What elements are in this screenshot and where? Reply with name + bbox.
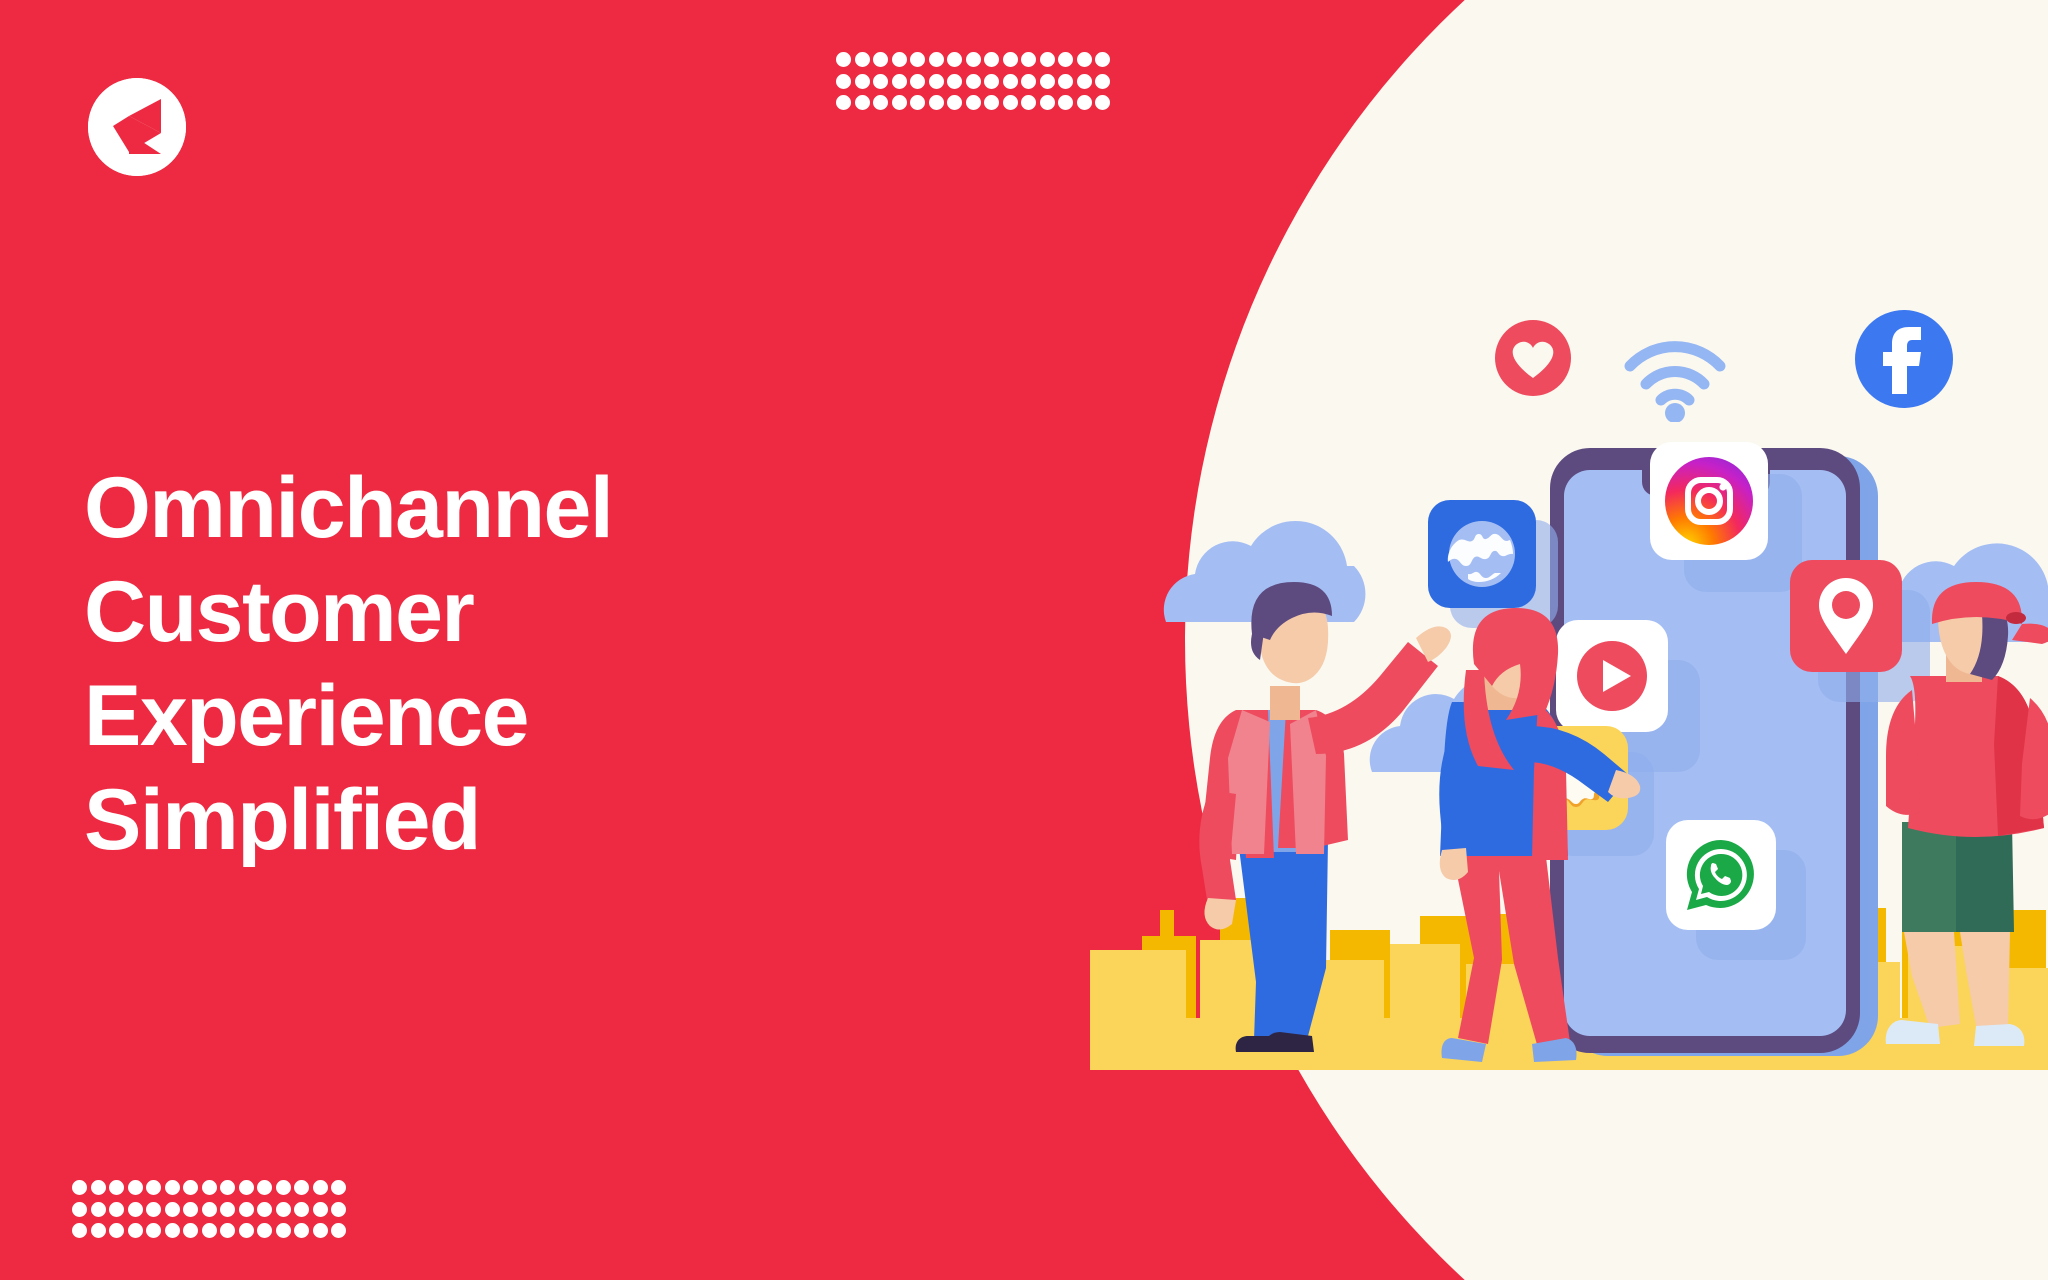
dot: [239, 1180, 254, 1195]
dot: [929, 52, 944, 67]
facebook-f-glyph-icon: [1855, 310, 1953, 408]
dot: [1058, 95, 1073, 110]
brand-logo-mark-icon: [88, 78, 186, 176]
dot: [239, 1202, 254, 1217]
dot: [239, 1223, 254, 1238]
dot: [892, 52, 907, 67]
dot: [929, 74, 944, 89]
dot: [331, 1180, 346, 1195]
dot: [1003, 52, 1018, 67]
dot: [128, 1223, 143, 1238]
dot: [276, 1202, 291, 1217]
instagram-glyph-icon: [1650, 442, 1768, 560]
dot: [165, 1223, 180, 1238]
heart-glyph-icon: [1495, 320, 1571, 396]
dot: [109, 1223, 124, 1238]
dot: [91, 1180, 106, 1195]
dot: [966, 74, 981, 89]
dot: [1040, 95, 1055, 110]
dot: [947, 52, 962, 67]
dot: [1077, 95, 1092, 110]
dot: [220, 1180, 235, 1195]
dot: [836, 74, 851, 89]
dot: [1095, 52, 1110, 67]
dot: [836, 95, 851, 110]
dot: [91, 1202, 106, 1217]
dot: [313, 1223, 328, 1238]
dot: [294, 1202, 309, 1217]
dot: [257, 1223, 272, 1238]
heart-icon[interactable]: [1495, 320, 1571, 396]
brand-logo[interactable]: [88, 78, 186, 176]
dot: [892, 74, 907, 89]
dot: [109, 1180, 124, 1195]
instagram-icon[interactable]: [1650, 442, 1768, 560]
dot: [202, 1202, 217, 1217]
dot-grid-row: [72, 1223, 350, 1241]
dot: [1058, 74, 1073, 89]
person-woman-tapping: [1380, 608, 1680, 1078]
dot: [947, 95, 962, 110]
dot: [966, 95, 981, 110]
dot: [183, 1180, 198, 1195]
dot: [146, 1202, 161, 1217]
whatsapp-glyph-icon: [1666, 820, 1776, 930]
headline-line-2: Customer: [84, 560, 884, 664]
dot: [1040, 52, 1055, 67]
dot: [220, 1223, 235, 1238]
dot: [1021, 95, 1036, 110]
whatsapp-icon[interactable]: [1666, 820, 1776, 930]
dot-grid-row: [72, 1202, 350, 1220]
dot: [984, 52, 999, 67]
dot: [947, 74, 962, 89]
dot: [1003, 74, 1018, 89]
wifi-icon[interactable]: [1620, 330, 1730, 427]
hero-illustration: [1150, 0, 2048, 1280]
dot: [910, 95, 925, 110]
dot: [257, 1202, 272, 1217]
dot: [1021, 52, 1036, 67]
dot: [183, 1223, 198, 1238]
dot: [1040, 74, 1055, 89]
dot: [1095, 74, 1110, 89]
hero-banner: Omnichannel Customer Experience Simplifi…: [0, 0, 2048, 1280]
facebook-icon[interactable]: [1855, 310, 1953, 408]
dot: [91, 1223, 106, 1238]
dot: [1095, 95, 1110, 110]
page-title: Omnichannel Customer Experience Simplifi…: [84, 456, 884, 872]
dot-grid-row: [836, 52, 1114, 70]
dot: [202, 1223, 217, 1238]
dot-grid-top: [836, 52, 1114, 117]
dot: [276, 1223, 291, 1238]
dot: [220, 1202, 235, 1217]
dot: [276, 1180, 291, 1195]
dot-grid-row: [836, 95, 1114, 113]
dot: [892, 95, 907, 110]
dot-grid-row: [836, 74, 1114, 92]
headline-line-3: Experience: [84, 664, 884, 768]
dot: [72, 1223, 87, 1238]
dot: [109, 1202, 124, 1217]
dot: [313, 1202, 328, 1217]
dot: [910, 52, 925, 67]
dot: [1021, 74, 1036, 89]
dot: [313, 1180, 328, 1195]
dot: [855, 95, 870, 110]
dot: [836, 52, 851, 67]
dot-grid-bottom: [72, 1180, 350, 1245]
dot: [873, 74, 888, 89]
dot: [294, 1223, 309, 1238]
dot: [331, 1202, 346, 1217]
dot: [1077, 52, 1092, 67]
headline-line-1: Omnichannel: [84, 456, 884, 560]
dot: [1058, 52, 1073, 67]
dot: [146, 1180, 161, 1195]
dot: [183, 1202, 198, 1217]
dot-grid-row: [72, 1180, 350, 1198]
dot: [1003, 95, 1018, 110]
dot: [72, 1202, 87, 1217]
dot: [984, 95, 999, 110]
dot: [910, 74, 925, 89]
dot: [257, 1180, 272, 1195]
dot: [128, 1180, 143, 1195]
dot: [855, 52, 870, 67]
dot: [984, 74, 999, 89]
dot: [202, 1180, 217, 1195]
headline-line-4: Simplified: [84, 768, 884, 872]
dot: [146, 1223, 161, 1238]
dot: [1077, 74, 1092, 89]
dot: [72, 1180, 87, 1195]
dot: [855, 74, 870, 89]
dot: [929, 95, 944, 110]
dot: [294, 1180, 309, 1195]
dot: [873, 95, 888, 110]
dot: [873, 52, 888, 67]
dot: [165, 1180, 180, 1195]
dot: [165, 1202, 180, 1217]
person-man-with-cap: [1830, 580, 2048, 1080]
dot: [331, 1223, 346, 1238]
dot: [128, 1202, 143, 1217]
dot: [966, 52, 981, 67]
